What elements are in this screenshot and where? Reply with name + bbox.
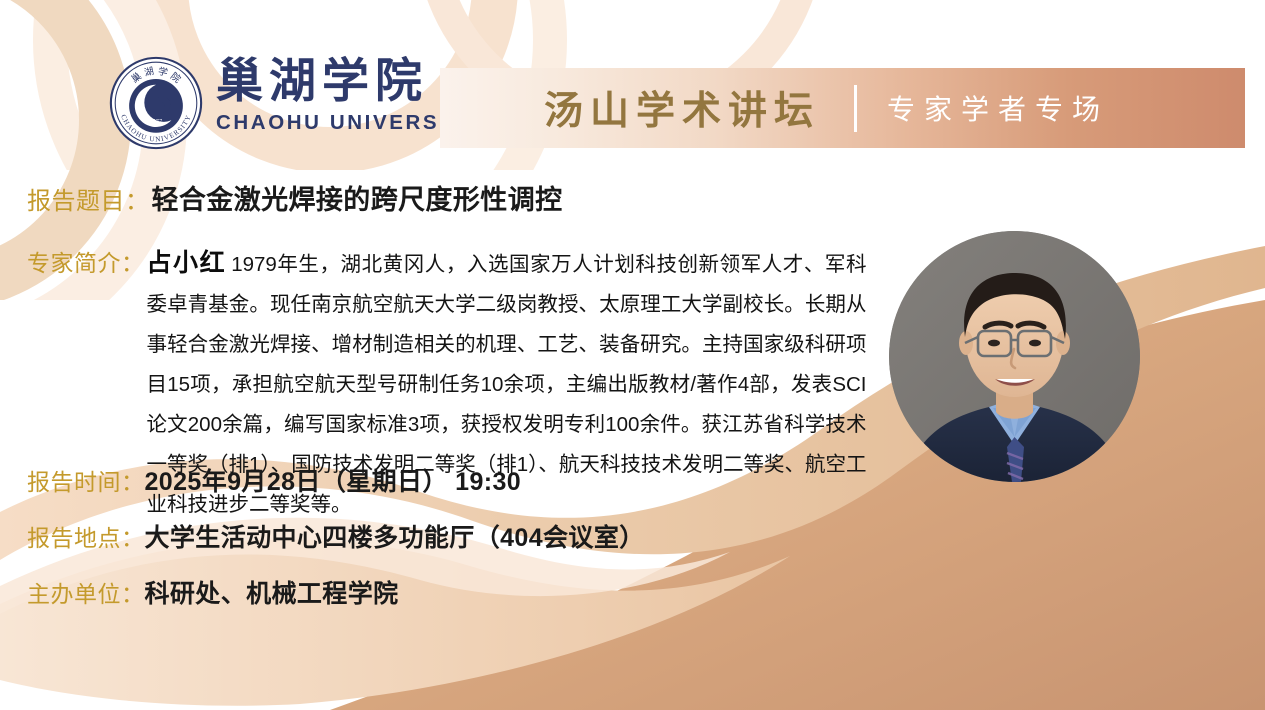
university-name: 巢湖学院 CHAOHU UNIVERSITY xyxy=(216,56,466,135)
lecture-host-value: 科研处、机械工程学院 xyxy=(145,574,399,610)
speaker-portrait-photo xyxy=(889,231,1140,482)
speaker-portrait xyxy=(889,231,1140,482)
university-name-en: CHAOHU UNIVERSITY xyxy=(216,111,466,135)
lecture-place-label: 报告地点： xyxy=(27,519,145,553)
poster-header: 1977 巢 湖 学 院 CHAOHU UNIVERSITY 巢湖学院 CHAO… xyxy=(0,0,1265,160)
university-logo: 1977 巢 湖 学 院 CHAOHU UNIVERSITY xyxy=(108,55,204,151)
speaker-name: 占小红 xyxy=(147,249,227,277)
lecture-time-value: 2025年9月28日（星期日） 19:30 xyxy=(145,462,522,498)
forum-banner-subtitle: 专家学者专场 xyxy=(887,88,1109,128)
forum-banner: 汤山学术讲坛 专家学者专场 xyxy=(440,68,1245,148)
speaker-bio-label: 专家简介： xyxy=(27,243,145,283)
lecture-title-label: 报告题目： xyxy=(27,181,150,216)
lecture-host-row: 主办单位： 科研处、机械工程学院 xyxy=(27,574,399,610)
lecture-time-label: 报告时间： xyxy=(27,463,145,497)
lecture-title-value: 轻合金激光焊接的跨尺度形性调控 xyxy=(152,178,563,217)
chaohu-university-seal-icon: 1977 巢 湖 学 院 CHAOHU UNIVERSITY xyxy=(108,55,204,151)
lecture-place-value: 大学生活动中心四楼多功能厅（404会议室） xyxy=(145,518,645,554)
banner-divider xyxy=(854,85,857,132)
lecture-title-row: 报告题目： 轻合金激光焊接的跨尺度形性调控 xyxy=(27,178,563,217)
poster-root: 1977 巢 湖 学 院 CHAOHU UNIVERSITY 巢湖学院 CHAO… xyxy=(0,0,1265,710)
forum-banner-title: 汤山学术讲坛 xyxy=(544,80,820,136)
svg-text:1977: 1977 xyxy=(149,119,162,125)
lecture-place-row: 报告地点： 大学生活动中心四楼多功能厅（404会议室） xyxy=(27,518,645,554)
lecture-time-row: 报告时间： 2025年9月28日（星期日） 19:30 xyxy=(27,462,521,498)
university-name-cn: 巢湖学院 xyxy=(216,56,466,109)
lecture-host-label: 主办单位： xyxy=(27,575,145,609)
